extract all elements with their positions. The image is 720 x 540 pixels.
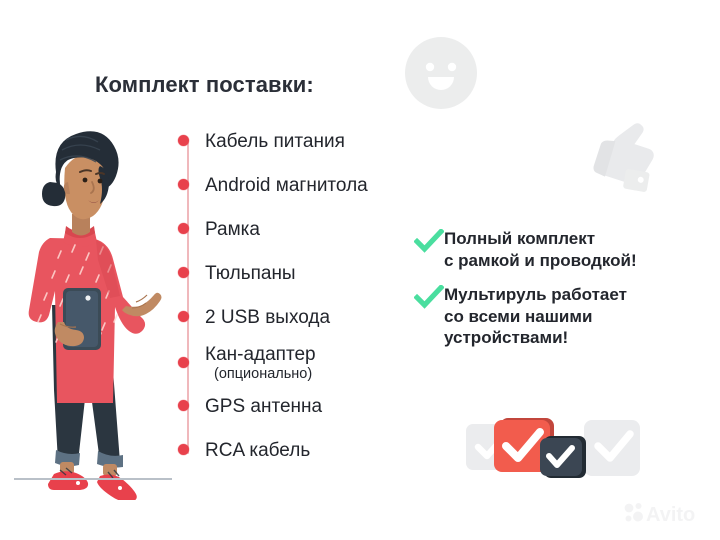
list-item-label: 2 USB выхода <box>205 306 330 329</box>
list-item-label: Android магнитола <box>205 174 368 197</box>
benefit-text: Мультируль работает со всеми нашими устр… <box>444 284 627 349</box>
bullet-dot-icon <box>178 444 189 455</box>
list-item-label: Кабель питания <box>205 130 345 153</box>
list-item-label: Тюльпаны <box>205 262 296 285</box>
benefit-line-1: Мультируль работает <box>444 285 627 304</box>
list-item: Кан-адаптер (опционально) <box>178 343 316 383</box>
list-item-label-main: Кан-адаптер <box>205 344 316 365</box>
avito-wordmark: Avito <box>646 504 695 526</box>
list-item: Тюльпаны <box>178 262 296 285</box>
smiley-face-icon <box>404 36 478 110</box>
list-item-label: RCA кабель <box>205 439 310 462</box>
list-item: 2 USB выхода <box>178 306 330 329</box>
page-title: Комплект поставки: <box>95 72 314 98</box>
bullet-dot-icon <box>178 311 189 322</box>
benefit-line-3: устройствами! <box>444 328 568 347</box>
bullet-dot-icon <box>178 267 189 278</box>
woman-pointing-illustration <box>8 110 178 500</box>
benefit-item: Мультируль работает со всеми нашими устр… <box>414 284 704 349</box>
benefit-line-2: с рамкой и проводкой! <box>444 251 637 270</box>
checkbox-cluster-icon <box>464 412 664 492</box>
green-check-icon <box>414 229 444 255</box>
ground-line <box>14 478 172 480</box>
list-item-label: GPS антенна <box>205 395 322 418</box>
list-item: RCA кабель <box>178 439 310 462</box>
bullet-dot-icon <box>178 135 189 146</box>
list-item: GPS антенна <box>178 395 322 418</box>
slide-canvas: Комплект поставки: Кабель питания Androi… <box>0 0 720 540</box>
list-item: Android магнитола <box>178 174 368 197</box>
list-item-label: Кан-адаптер (опционально) <box>205 343 316 383</box>
bullet-dot-icon <box>178 357 189 368</box>
list-item: Рамка <box>178 218 260 241</box>
bullet-dot-icon <box>178 400 189 411</box>
thumbs-up-icon <box>576 104 676 204</box>
green-check-icon <box>414 285 444 311</box>
benefit-line-1: Полный комплект <box>444 229 595 248</box>
avito-watermark: Avito <box>622 500 710 526</box>
bullet-dot-icon <box>178 223 189 234</box>
list-item-label-sub: (опционально) <box>214 366 316 383</box>
benefit-text: Полный комплект с рамкой и проводкой! <box>444 228 637 271</box>
benefit-item: Полный комплект с рамкой и проводкой! <box>414 228 704 271</box>
list-item: Кабель питания <box>178 130 345 153</box>
benefits-list: Полный комплект с рамкой и проводкой! Му… <box>414 228 704 362</box>
list-item-label: Рамка <box>205 218 260 241</box>
benefit-line-2: со всеми нашими <box>444 307 592 326</box>
bullet-dot-icon <box>178 179 189 190</box>
package-contents-list: Кабель питания Android магнитола Рамка Т… <box>178 130 438 460</box>
